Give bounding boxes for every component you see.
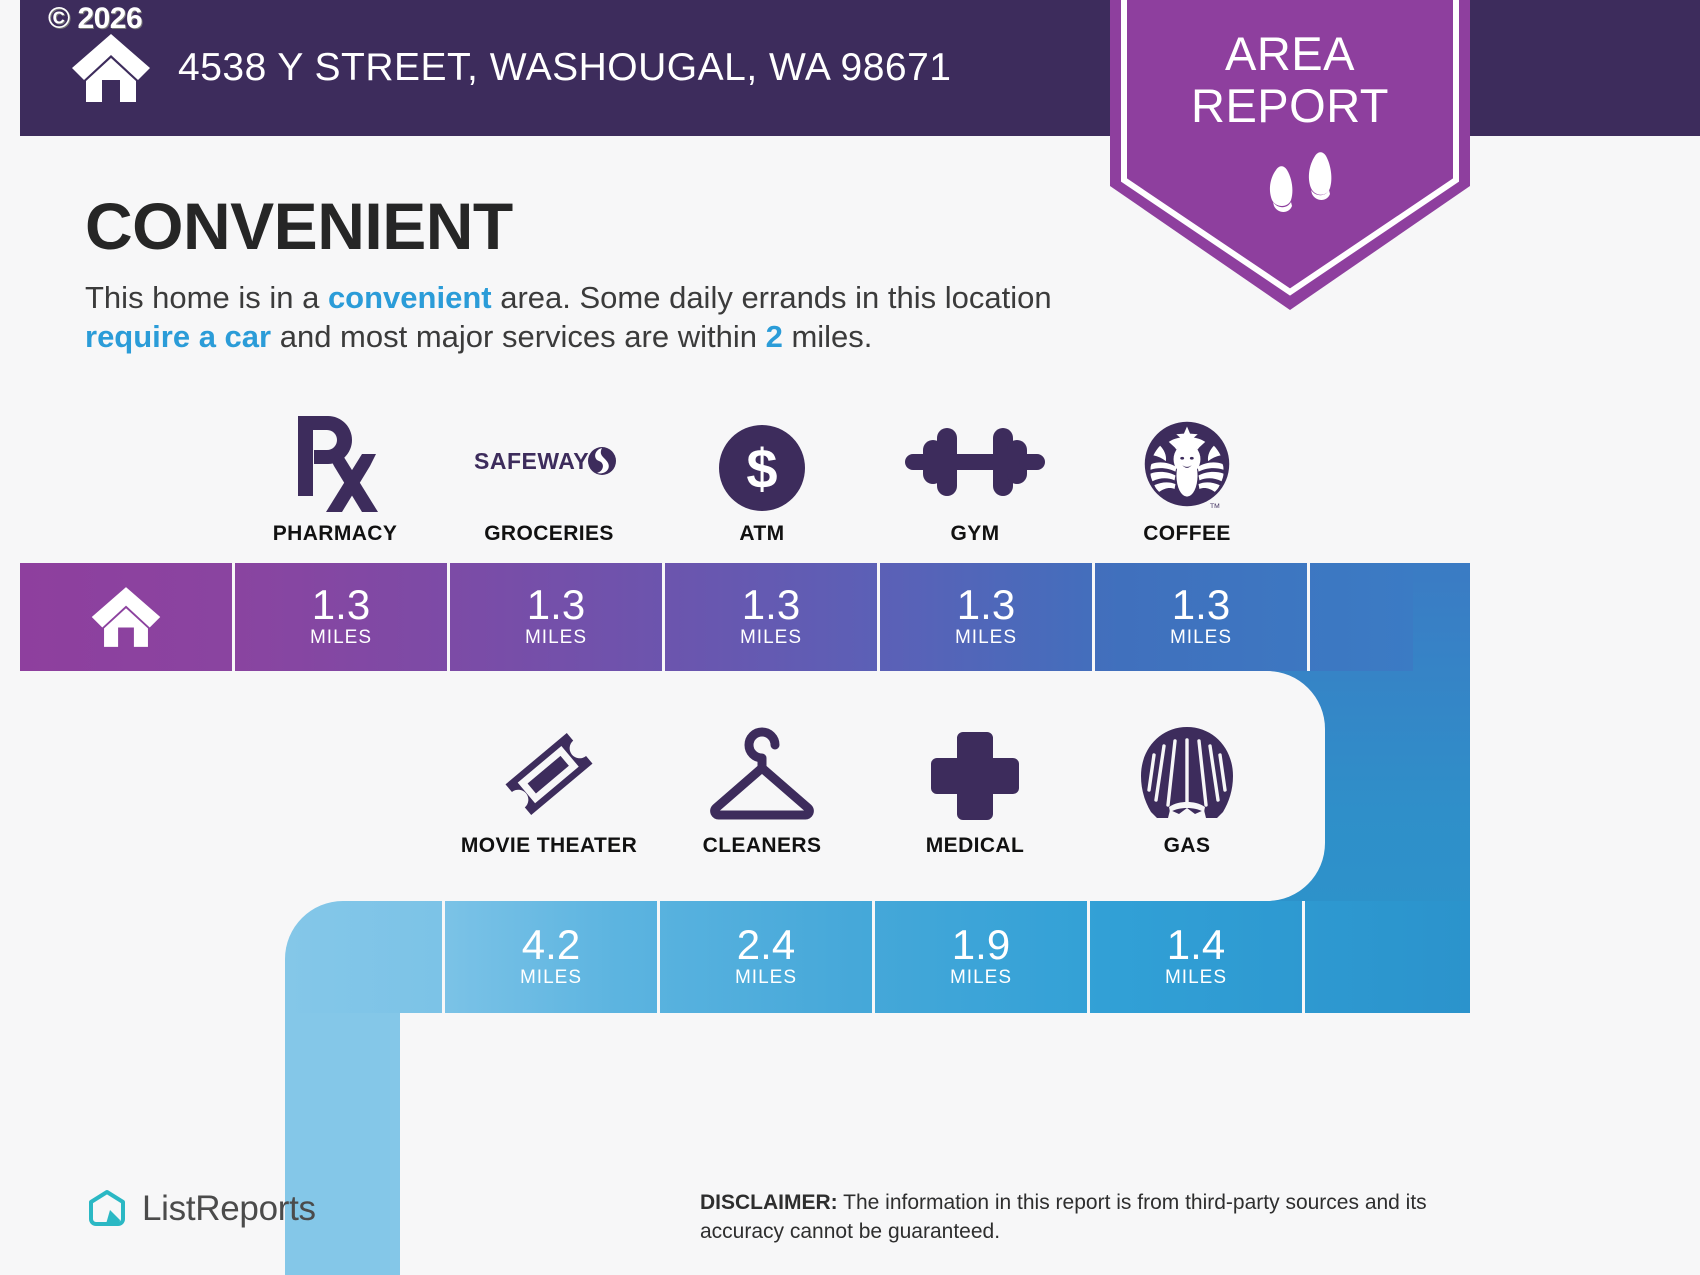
distance-value: 1.3 — [527, 584, 585, 626]
distance-unit: MILES — [1165, 966, 1227, 990]
service-label: CLEANERS — [655, 834, 869, 858]
bar-divider — [1302, 901, 1305, 1013]
service-label: MEDICAL — [868, 834, 1082, 858]
distance-unit: MILES — [740, 626, 802, 650]
service-icon-movie-theater: MOVIE THEATER — [442, 720, 656, 858]
distance-cell-movie-theater: 4.2 MILES — [445, 901, 657, 1013]
distance-unit: MILES — [955, 626, 1017, 650]
desc-part-4: miles. — [783, 319, 873, 354]
distance-value: 4.2 — [522, 924, 580, 966]
distance-unit: MILES — [310, 626, 372, 650]
area-report-page: © 2026 4538 Y STREET, WASHOUGAL, WA 9867… — [0, 0, 1700, 1275]
distance-unit: MILES — [520, 966, 582, 990]
shell-logo — [1080, 720, 1294, 824]
distance-unit: MILES — [735, 966, 797, 990]
service-label: GAS — [1080, 834, 1294, 858]
service-label: COFFEE — [1080, 522, 1294, 546]
distance-value: 1.3 — [312, 584, 370, 626]
desc-highlight-1: convenient — [328, 280, 492, 315]
listreports-house-icon — [86, 1188, 128, 1230]
service-icon-gas: GAS — [1080, 720, 1294, 858]
service-label: GROCERIES — [442, 522, 656, 546]
safeway-logo: SAFEWAY — [442, 408, 656, 512]
badge-line-2: REPORT — [1110, 80, 1470, 132]
home-marker-cell — [20, 563, 232, 671]
copyright-watermark: © 2026 — [48, 2, 142, 36]
distance-cell-pharmacy: 1.3 MILES — [235, 563, 447, 671]
distance-cell-gym: 1.3 MILES — [880, 563, 1092, 671]
distance-cell-atm: 1.3 MILES — [665, 563, 877, 671]
service-label: MOVIE THEATER — [442, 834, 656, 858]
service-icon-atm: $ ATM — [655, 408, 869, 546]
service-icon-coffee: TM COFFEE — [1080, 408, 1294, 546]
desc-highlight-2: require a car — [85, 319, 271, 354]
service-label: ATM — [655, 522, 869, 546]
svg-text:TM: TM — [1210, 503, 1220, 510]
distance-cell-cleaners: 2.4 MILES — [660, 901, 872, 1013]
distance-value: 1.3 — [742, 584, 800, 626]
starbucks-logo: TM — [1080, 408, 1294, 512]
distance-cell-groceries: 1.3 MILES — [450, 563, 662, 671]
distance-value: 1.9 — [952, 924, 1010, 966]
home-icon — [70, 32, 152, 104]
service-icon-medical: MEDICAL — [868, 720, 1082, 858]
distance-cell-gas: 1.4 MILES — [1090, 901, 1302, 1013]
badge-title: AREA REPORT — [1110, 28, 1470, 132]
disclaimer-label: DISCLAIMER: — [700, 1191, 838, 1214]
distance-unit: MILES — [1170, 626, 1232, 650]
service-label: GYM — [868, 522, 1082, 546]
service-icon-cleaners: CLEANERS — [655, 720, 869, 858]
property-address: 4538 Y STREET, WASHOUGAL, WA 98671 — [178, 46, 952, 90]
distance-cell-medical: 1.9 MILES — [875, 901, 1087, 1013]
disclaimer: DISCLAIMER: The information in this repo… — [700, 1188, 1500, 1246]
desc-part-1: This home is in a — [85, 280, 328, 315]
bar-divider — [1307, 563, 1310, 671]
footprints-icon — [1260, 148, 1350, 228]
svg-text:$: $ — [746, 437, 777, 500]
svg-text:SAFEWAY: SAFEWAY — [474, 448, 589, 474]
distance-unit: MILES — [525, 626, 587, 650]
service-icon-gym: GYM — [868, 408, 1082, 546]
movie-ticket-icon — [442, 720, 656, 824]
rx-icon — [228, 408, 442, 512]
area-report-badge: AREA REPORT — [1110, 0, 1470, 310]
listreports-logo[interactable]: ListReports — [86, 1188, 316, 1230]
desc-part-2: area. Some daily errands in this locatio… — [492, 280, 1052, 315]
home-icon — [90, 584, 162, 650]
ribbon-tail-cutout — [400, 1013, 530, 1275]
clothes-hanger-icon — [655, 720, 869, 824]
ribbon-tail — [285, 1013, 400, 1275]
page-title: CONVENIENT — [85, 188, 513, 264]
distance-value: 1.3 — [1172, 584, 1230, 626]
medical-cross-icon — [868, 720, 1082, 824]
service-icon-groceries: SAFEWAY GROCERIES — [442, 408, 656, 546]
listreports-wordmark: ListReports — [142, 1189, 316, 1229]
distance-value: 1.3 — [957, 584, 1015, 626]
dumbbell-icon — [868, 408, 1082, 512]
distance-value: 1.4 — [1167, 924, 1225, 966]
service-label: PHARMACY — [228, 522, 442, 546]
distance-value: 2.4 — [737, 924, 795, 966]
desc-highlight-3: 2 — [766, 319, 783, 354]
badge-line-1: AREA — [1110, 28, 1470, 80]
distance-cell-coffee: 1.3 MILES — [1095, 563, 1307, 671]
dollar-circle-icon: $ — [655, 408, 869, 512]
description-text: This home is in a convenient area. Some … — [85, 278, 1075, 356]
desc-part-3: and most major services are within — [271, 319, 765, 354]
service-icon-pharmacy: PHARMACY — [228, 408, 442, 546]
distance-unit: MILES — [950, 966, 1012, 990]
